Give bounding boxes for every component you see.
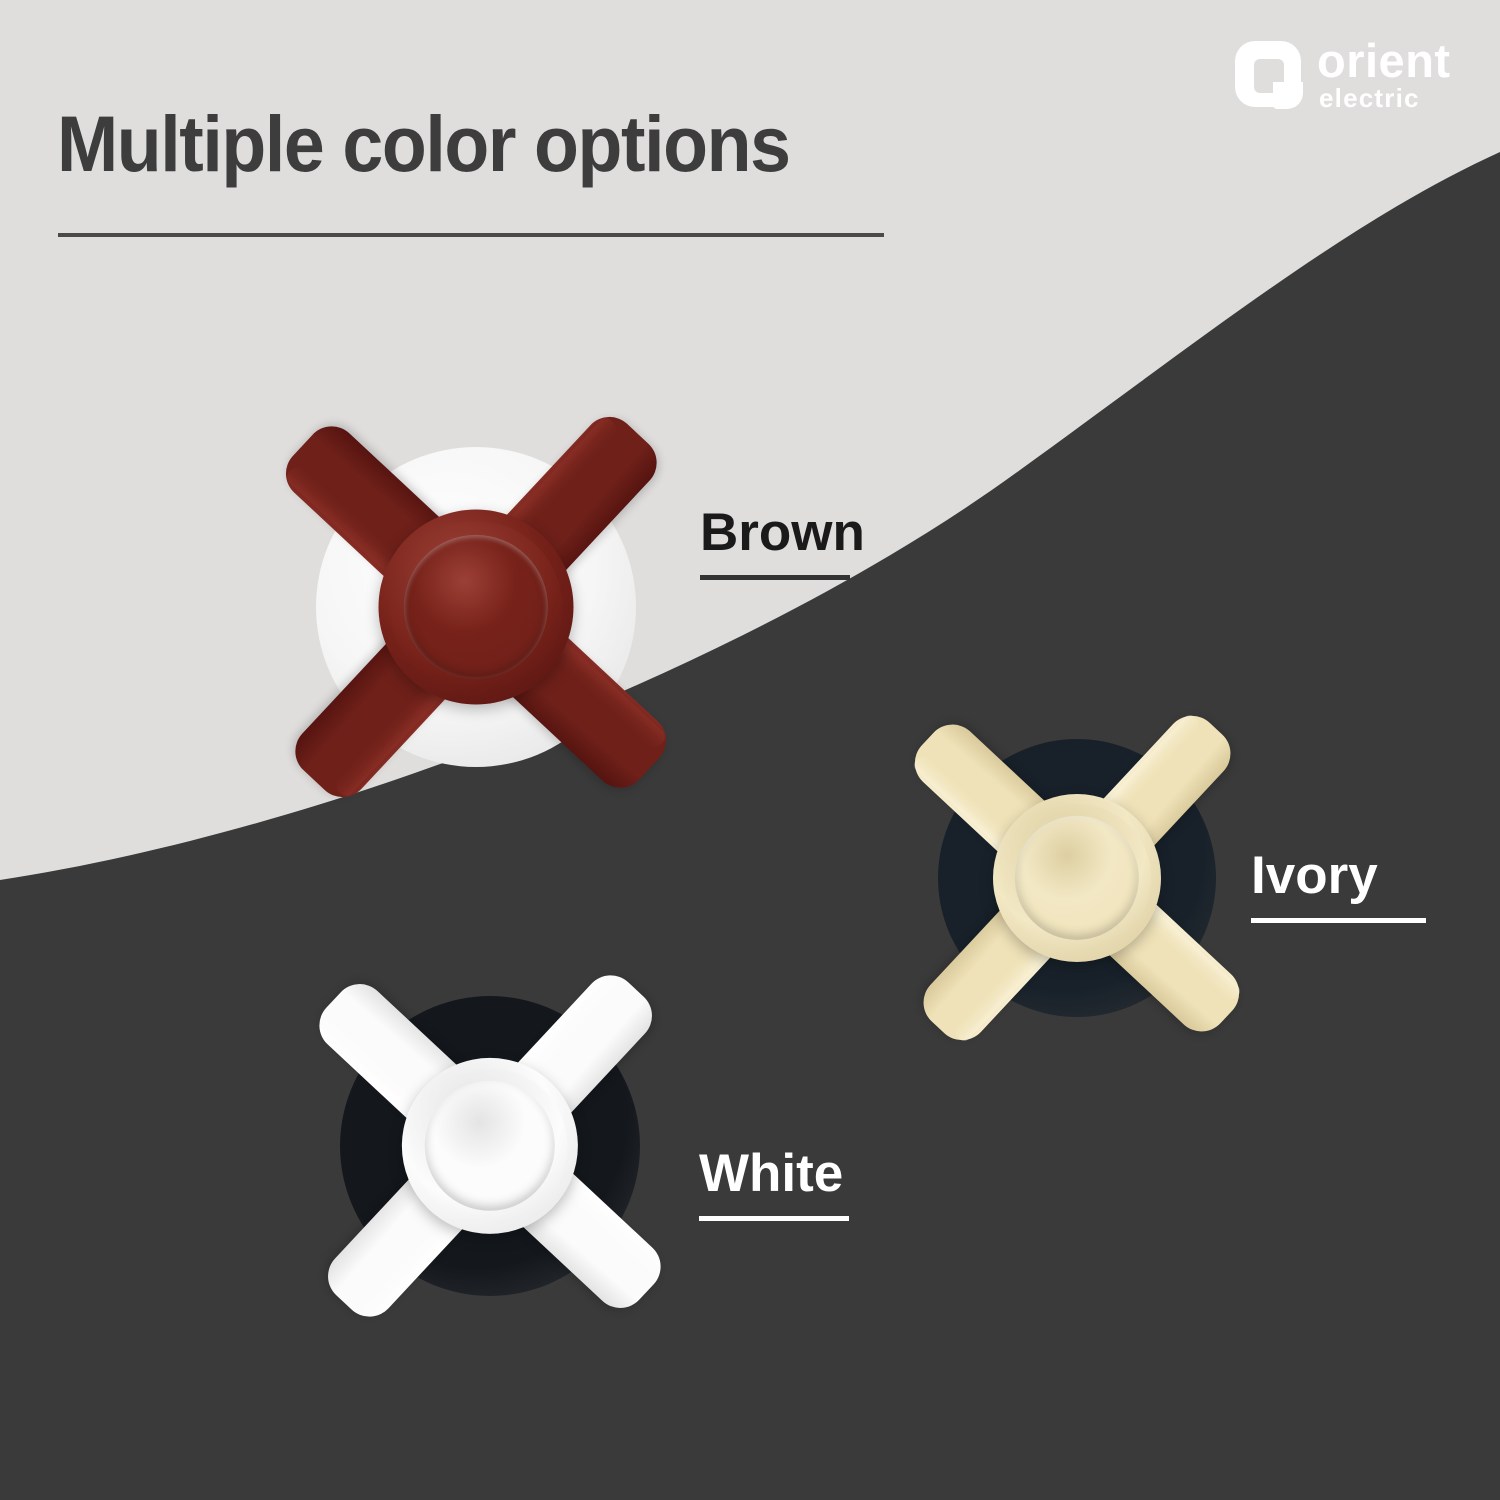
- poster-canvas: Multiple color options orient electric B…: [0, 0, 1500, 1500]
- fan-ivory: [853, 654, 1301, 1102]
- swatch-label-ivory: Ivory: [1251, 848, 1426, 923]
- q-tail-icon: [1273, 82, 1303, 109]
- fan-hub-dome: [404, 535, 548, 679]
- swatch-underline-white: [699, 1216, 849, 1221]
- swatch-underline-ivory: [1251, 918, 1426, 923]
- fan-hub-dome: [425, 1081, 555, 1211]
- title-underline: [58, 233, 884, 237]
- swatch-underline-brown: [700, 575, 850, 580]
- brand-name: orient: [1317, 36, 1451, 86]
- swatch-name-ivory: Ivory: [1251, 848, 1426, 904]
- swatch-label-brown: Brown: [700, 505, 865, 580]
- page-title: Multiple color options: [57, 98, 790, 190]
- fan-brown: [216, 347, 736, 867]
- brand-tagline: electric: [1319, 84, 1420, 112]
- swatch-label-white: White: [699, 1146, 849, 1221]
- fan-hub-dome: [1015, 816, 1139, 940]
- brand-logo: orient electric: [1235, 38, 1455, 120]
- swatch-name-white: White: [699, 1146, 849, 1202]
- fan-white: [255, 911, 725, 1381]
- swatch-name-brown: Brown: [700, 505, 865, 561]
